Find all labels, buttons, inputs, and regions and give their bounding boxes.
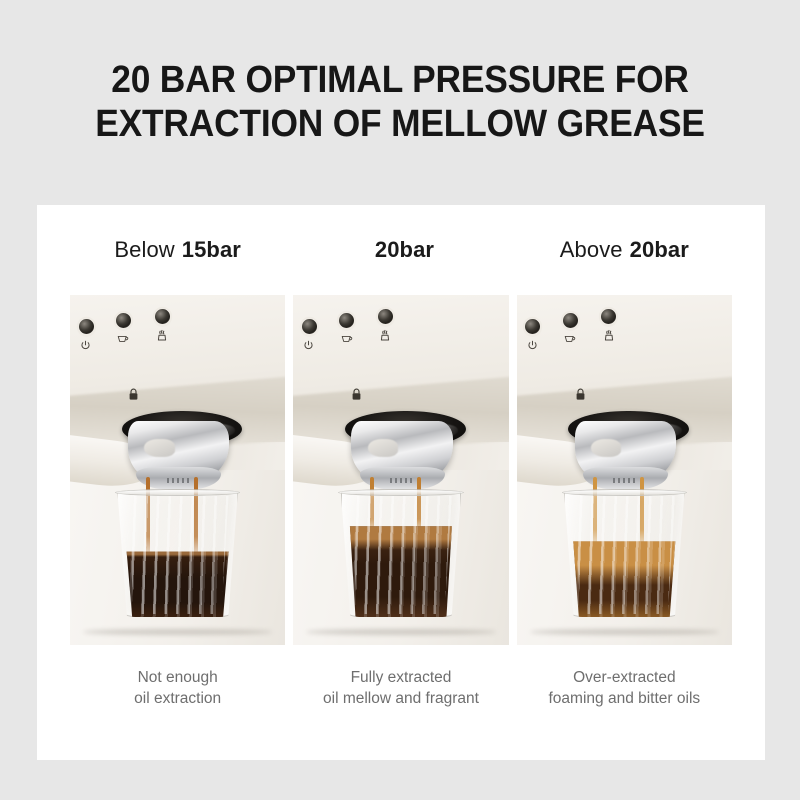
cup-flutes [571, 496, 677, 614]
column-header-prefix: Below [114, 237, 174, 263]
column-caption: Over-extracted foaming and bitter oils [517, 645, 732, 760]
control-panel [79, 309, 213, 379]
headline-line-2: EXTRACTION OF MELLOW GREASE [28, 102, 772, 146]
cup-flutes [348, 496, 454, 614]
coffee-cup [117, 491, 238, 617]
cup-icon [564, 334, 576, 344]
control-knob-power[interactable] [79, 319, 94, 334]
lock-icon [128, 388, 139, 401]
machine-photo [517, 295, 732, 645]
portafilter [351, 421, 452, 481]
control-knob-steam[interactable] [601, 309, 616, 324]
column-header-prefix: Above [560, 237, 623, 263]
caption-line-2: oil mellow and fragrant [293, 688, 508, 709]
control-knob-power[interactable] [525, 319, 540, 334]
machine-photo [70, 295, 285, 645]
caption-line-1: Fully extracted [293, 667, 508, 688]
cup-shadow [530, 629, 719, 635]
pressure-column-above-20bar: Above20bar [517, 205, 732, 760]
cup-icon [341, 334, 353, 344]
column-header-value: 15bar [182, 237, 241, 263]
portafilter [128, 421, 229, 481]
portafilter-screws [613, 478, 637, 483]
cup-flutes [125, 496, 231, 614]
cup-shadow [83, 629, 272, 635]
machine-photo [293, 295, 508, 645]
comparison-card: Below15bar [37, 205, 765, 760]
caption-line-1: Not enough [70, 667, 285, 688]
portafilter-notch [368, 439, 398, 457]
control-panel [302, 309, 436, 379]
steam-icon [156, 329, 168, 341]
control-knob-power[interactable] [302, 319, 317, 334]
coffee-cup [341, 491, 462, 617]
column-header: Above20bar [517, 205, 732, 295]
steam-icon [379, 329, 391, 341]
power-icon [80, 340, 91, 351]
lock-icon [575, 388, 586, 401]
caption-line-2: oil extraction [70, 688, 285, 709]
portafilter-screws [390, 478, 414, 483]
column-caption: Not enough oil extraction [70, 645, 285, 760]
control-knob-cup[interactable] [339, 313, 354, 328]
steam-icon [603, 329, 615, 341]
control-knob-steam[interactable] [155, 309, 170, 324]
pressure-column-below-15bar: Below15bar [70, 205, 285, 760]
cup-shadow [306, 629, 495, 635]
cup-rim [338, 489, 463, 496]
cup-rim [562, 489, 687, 496]
page-title: 20 BAR OPTIMAL PRESSURE FOR EXTRACTION O… [28, 58, 772, 146]
coffee-cup [564, 491, 685, 617]
caption-line-2: foaming and bitter oils [517, 688, 732, 709]
cup-icon [117, 334, 129, 344]
column-header: 20bar [293, 205, 508, 295]
portafilter-screws [167, 478, 191, 483]
cup-rim [115, 489, 240, 496]
control-knob-steam[interactable] [378, 309, 393, 324]
power-icon [303, 340, 314, 351]
portafilter-notch [144, 439, 174, 457]
comparison-columns: Below15bar [70, 205, 732, 760]
column-caption: Fully extracted oil mellow and fragrant [293, 645, 508, 760]
pressure-column-20bar: 20bar [293, 205, 508, 760]
power-icon [527, 340, 538, 351]
column-header-value: 20bar [375, 237, 434, 263]
caption-line-1: Over-extracted [517, 667, 732, 688]
control-knob-cup[interactable] [563, 313, 578, 328]
column-header-value: 20bar [630, 237, 689, 263]
column-header: Below15bar [70, 205, 285, 295]
control-knob-cup[interactable] [116, 313, 131, 328]
portafilter [575, 421, 676, 481]
control-panel [525, 309, 659, 379]
portafilter-notch [591, 439, 621, 457]
lock-icon [351, 388, 362, 401]
headline-line-1: 20 BAR OPTIMAL PRESSURE FOR [28, 58, 772, 102]
